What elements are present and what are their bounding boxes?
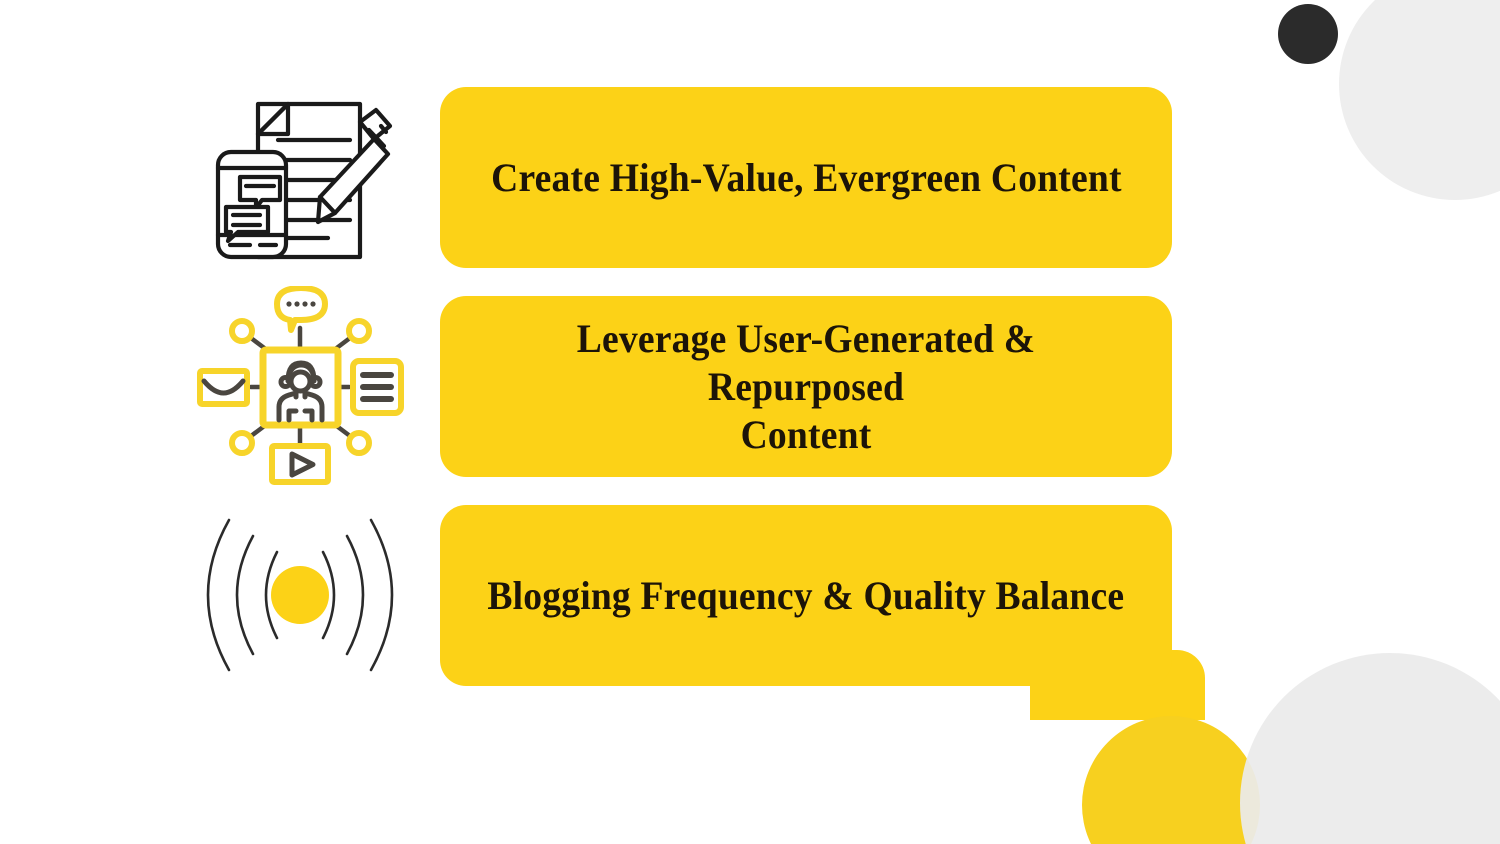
- card-title: Leverage User-Generated & Repurposed Con…: [486, 315, 1125, 459]
- user-generated-content-network-icon: [180, 286, 420, 486]
- content-writing-icon: [180, 77, 420, 277]
- content-row: Create High-Value, Evergreen Content: [0, 87, 1500, 268]
- content-row: Blogging Frequency & Quality Balance: [0, 505, 1500, 686]
- strategy-card[interactable]: Create High-Value, Evergreen Content: [440, 87, 1172, 268]
- strategy-card[interactable]: Leverage User-Generated & Repurposed Con…: [440, 296, 1172, 477]
- dark-circle-top-right-decoration: [1278, 4, 1338, 64]
- strategy-card[interactable]: Blogging Frequency & Quality Balance: [440, 505, 1172, 686]
- yellow-circle-bottom-right-decoration: [1082, 716, 1260, 844]
- card-title: Create High-Value, Evergreen Content: [491, 154, 1122, 202]
- slide-canvas: Create High-Value, Evergreen Content: [0, 0, 1500, 844]
- card-title: Blogging Frequency & Quality Balance: [488, 572, 1125, 620]
- content-rows: Create High-Value, Evergreen Content: [0, 87, 1500, 714]
- broadcast-signal-icon: [180, 495, 420, 695]
- content-row: Leverage User-Generated & Repurposed Con…: [0, 296, 1500, 477]
